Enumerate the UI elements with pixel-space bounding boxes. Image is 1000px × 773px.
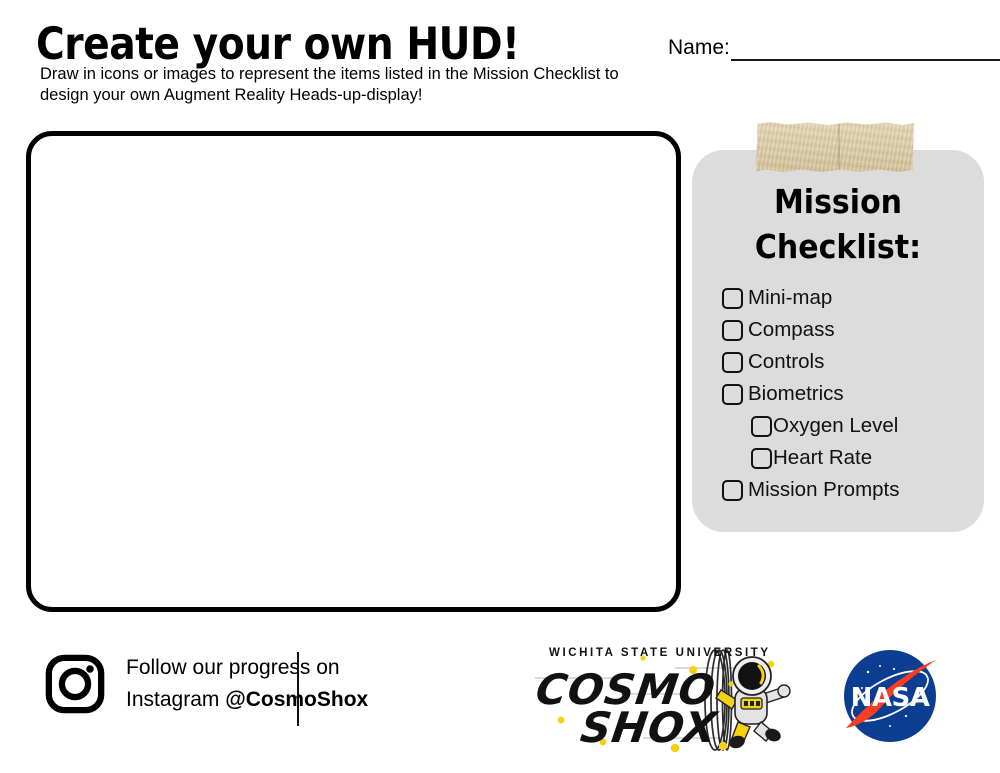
- cosmoshox-logo: WICHITA STATE UNIVERSITY COSMO SHOX: [525, 642, 810, 754]
- instagram-block[interactable]: Follow our progress on Instagram @CosmoS…: [44, 652, 368, 716]
- checkbox-icon[interactable]: [722, 352, 743, 373]
- checkbox-icon[interactable]: [722, 288, 743, 309]
- checkbox-icon[interactable]: [722, 384, 743, 405]
- checklist-item-label: Mini-map: [748, 286, 832, 310]
- instagram-text: Follow our progress on Instagram @CosmoS…: [126, 652, 368, 716]
- checklist-item-label: Oxygen Level: [773, 414, 898, 438]
- name-input[interactable]: [731, 39, 1000, 61]
- worksheet-header: Create your own HUD! Draw in icons or im…: [0, 0, 1000, 120]
- checklist-item-biometrics[interactable]: Biometrics: [722, 378, 984, 410]
- instagram-line-1: Follow our progress on: [126, 652, 368, 684]
- checklist-item-heart-rate[interactable]: Heart Rate: [722, 442, 984, 474]
- checklist-item-mission-prompts[interactable]: Mission Prompts: [722, 474, 984, 506]
- logo-divider: [297, 652, 299, 726]
- checklist-item-label: Compass: [748, 318, 835, 342]
- checkbox-icon[interactable]: [751, 416, 772, 437]
- checklist-item-label: Mission Prompts: [748, 478, 900, 502]
- checkbox-icon[interactable]: [722, 480, 743, 501]
- cosmoshox-university-text: WICHITA STATE UNIVERSITY: [549, 647, 771, 659]
- masking-tape-icon: [756, 122, 914, 172]
- checklist-heading-line2: Checklist:: [692, 225, 984, 270]
- checklist-item-label: Biometrics: [748, 382, 844, 406]
- nasa-logo: NASA: [838, 644, 942, 748]
- nasa-wordmark: NASA: [851, 683, 930, 713]
- checklist-item-label: Controls: [748, 350, 824, 374]
- checkbox-icon[interactable]: [751, 448, 772, 469]
- instagram-icon[interactable]: [44, 653, 106, 715]
- instagram-line-2-prefix: Instagram: [126, 688, 225, 711]
- checklist-heading-line1: Mission: [692, 180, 984, 225]
- mission-checklist-panel: Mission Checklist: Mini-map Compass Cont…: [692, 120, 984, 532]
- checklist-heading: Mission Checklist:: [692, 180, 984, 270]
- checklist-item-mini-map[interactable]: Mini-map: [722, 282, 984, 314]
- checkbox-icon[interactable]: [722, 320, 743, 341]
- checklist-item-controls[interactable]: Controls: [722, 346, 984, 378]
- instagram-line-2: Instagram @CosmoShox: [126, 684, 368, 716]
- checklist-items: Mini-map Compass Controls Biometrics Oxy…: [722, 282, 984, 506]
- name-field: Name:: [668, 36, 1000, 61]
- name-label: Name:: [668, 36, 730, 60]
- footer: Follow our progress on Instagram @CosmoS…: [0, 636, 1000, 773]
- page-title: Create your own HUD!: [36, 20, 519, 69]
- drawing-canvas[interactable]: [26, 131, 681, 612]
- checklist-item-oxygen-level[interactable]: Oxygen Level: [722, 410, 984, 442]
- checklist-item-compass[interactable]: Compass: [722, 314, 984, 346]
- cosmoshox-word-2: SHOX: [578, 703, 722, 752]
- page-subtitle: Draw in icons or images to represent the…: [40, 64, 640, 106]
- checklist-item-label: Heart Rate: [773, 446, 872, 470]
